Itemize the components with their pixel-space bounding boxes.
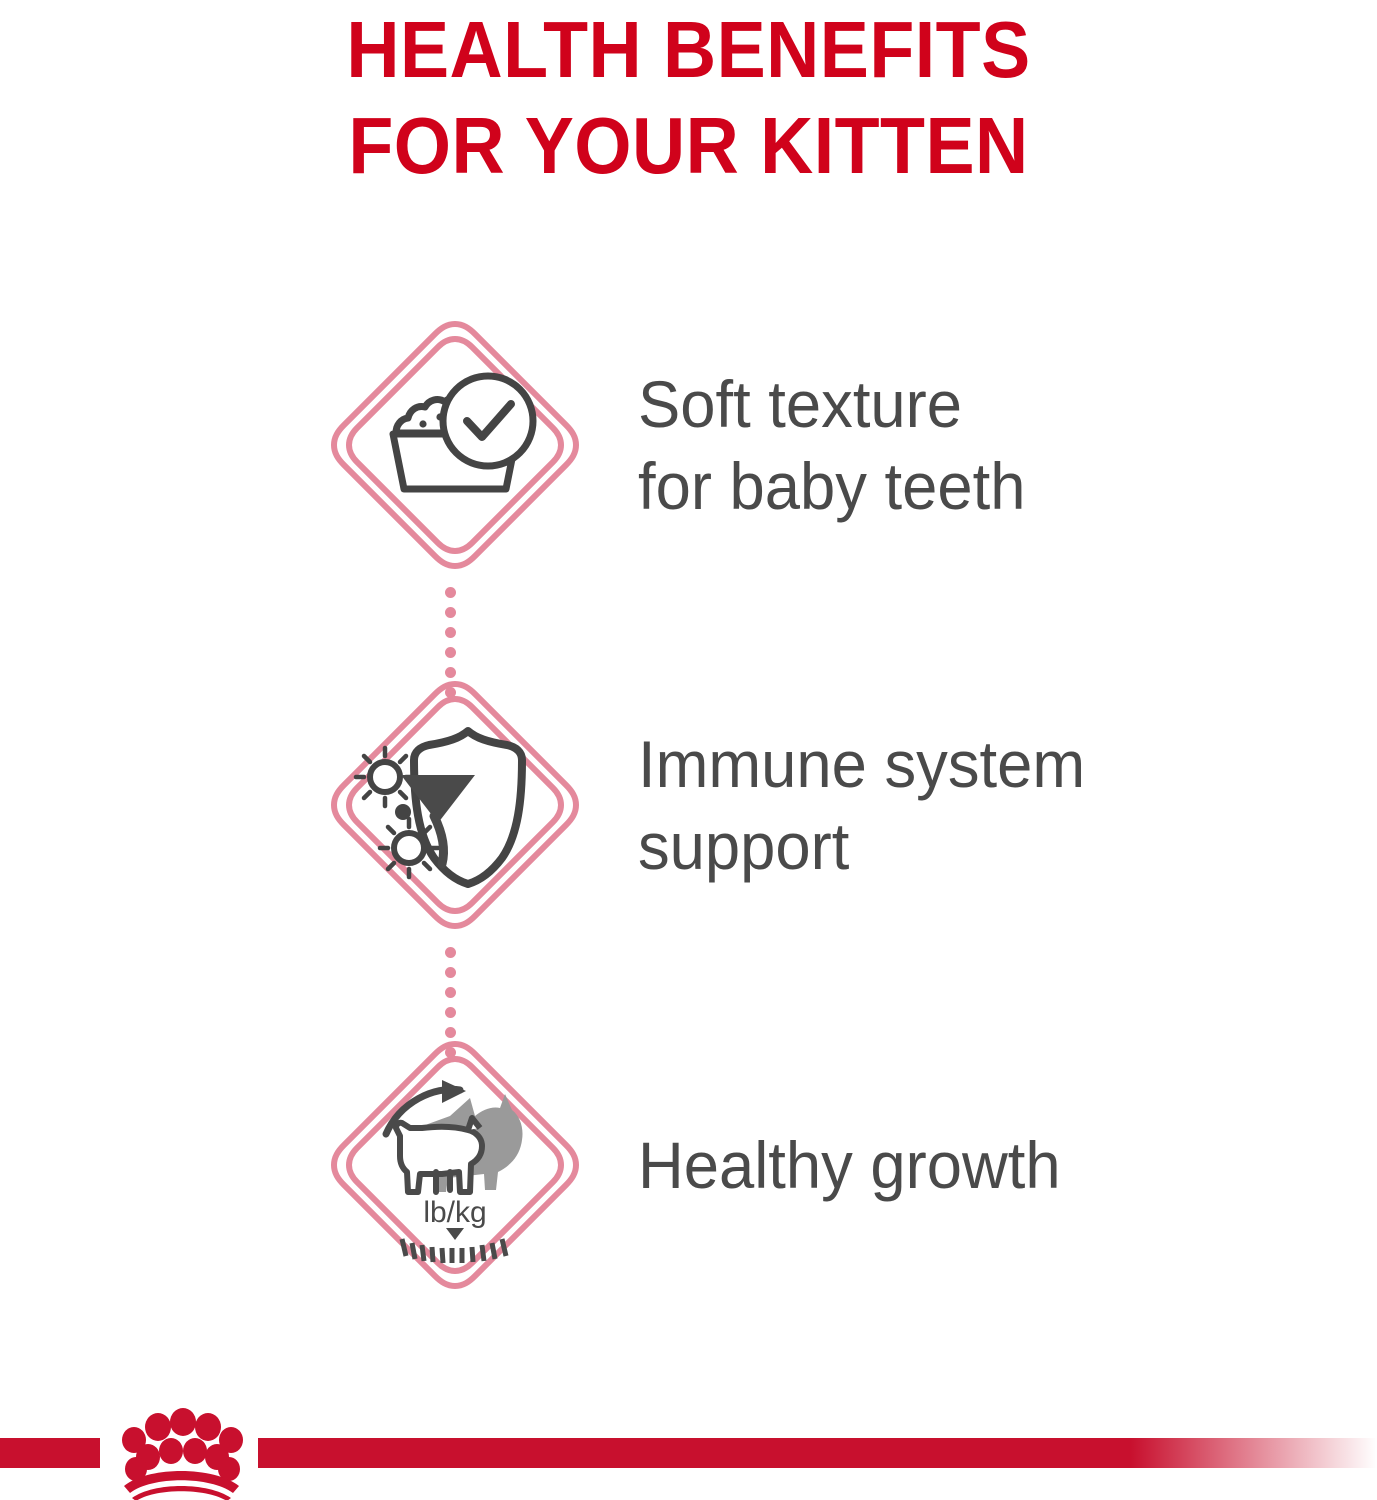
- health-benefits-infographic: HEALTH BENEFITS FOR YOUR KITTEN: [0, 0, 1377, 1500]
- benefit-row-immune-system: Immune system support: [0, 660, 1377, 1020]
- icon-caption-lb-kg: lb/kg: [423, 1196, 486, 1229]
- benefit-row-healthy-growth: lb/kg: [0, 1020, 1377, 1380]
- benefit-label-cell: Soft texture for baby teeth: [638, 320, 1298, 570]
- benefit-label-immune-system: Immune system support: [638, 723, 1085, 887]
- benefit-row-soft-texture: Soft texture for baby teeth: [0, 300, 1377, 660]
- connector-dot: [445, 607, 456, 618]
- connector-dot: [445, 987, 456, 998]
- connector-dot: [445, 967, 456, 978]
- benefits-list: Soft texture for baby teeth: [0, 300, 1377, 1380]
- connector-dot: [445, 687, 456, 698]
- connector-dots-1: [441, 587, 459, 707]
- royal-canin-crown-logo: [96, 1404, 266, 1500]
- connector-dot: [445, 1027, 456, 1038]
- benefit-label-healthy-growth: Healthy growth: [638, 1124, 1061, 1206]
- connector-dots-2: [441, 947, 459, 1067]
- benefit-label-cell: Immune system support: [638, 680, 1298, 930]
- connector-dot: [445, 627, 456, 638]
- brand-bar-right-segment: [258, 1438, 1377, 1468]
- page-title: HEALTH BENEFITS FOR YOUR KITTEN: [0, 2, 1377, 194]
- connector-dot: [445, 647, 456, 658]
- brand-bar-left-segment: [0, 1438, 100, 1468]
- benefit-label-soft-texture: Soft texture for baby teeth: [638, 363, 1025, 527]
- title-line-1: HEALTH BENEFITS: [55, 2, 1322, 98]
- cat-growth-scale-icon: lb/kg: [330, 1040, 580, 1290]
- benefit-label-cell: Healthy growth: [638, 1040, 1298, 1290]
- connector-dot: [445, 587, 456, 598]
- food-bowl-check-icon: [330, 320, 580, 570]
- connector-dot: [445, 1047, 456, 1058]
- connector-dot: [445, 947, 456, 958]
- shield-germs-icon: [330, 680, 580, 930]
- title-line-2: FOR YOUR KITTEN: [55, 98, 1322, 194]
- connector-dot: [445, 1007, 456, 1018]
- connector-dot: [445, 667, 456, 678]
